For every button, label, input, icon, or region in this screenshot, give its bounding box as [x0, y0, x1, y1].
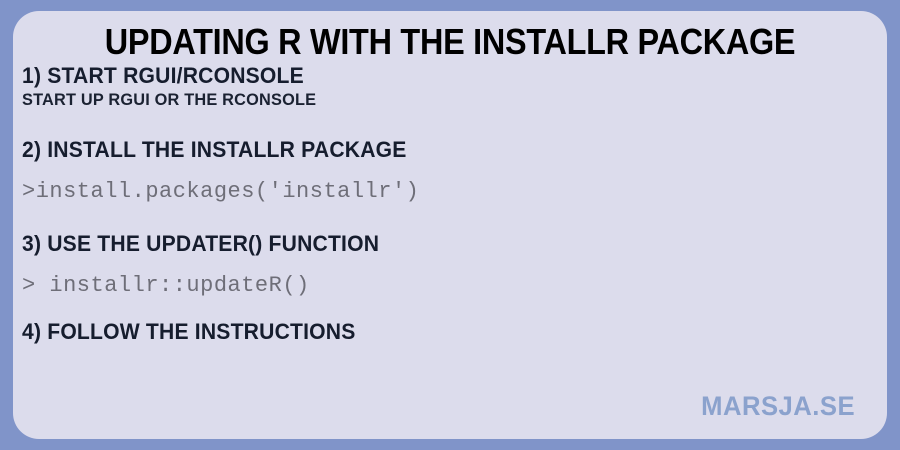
- page-title: UPDATING R WITH THE INSTALLR PACKAGE: [57, 22, 844, 62]
- spacer-5: [22, 301, 882, 319]
- poster-card: UPDATING R WITH THE INSTALLR PACKAGE 1) …: [13, 11, 887, 439]
- step-1: 1) START RGUI/RCONSOLE START UP RGUI OR …: [22, 63, 882, 111]
- spacer-3: [22, 207, 882, 231]
- step-2-heading: 2) INSTALL THE INSTALLR PACKAGE: [22, 137, 848, 163]
- step-1-heading: 1) START RGUI/RCONSOLE: [22, 63, 848, 89]
- step-4-heading: 4) FOLLOW THE INSTRUCTIONS: [22, 319, 848, 345]
- step-2-code: >install.packages('installr'): [22, 177, 882, 207]
- step-2: 2) INSTALL THE INSTALLR PACKAGE >install…: [22, 137, 882, 207]
- steps-list: 1) START RGUI/RCONSOLE START UP RGUI OR …: [22, 63, 882, 345]
- spacer-1: [22, 111, 882, 137]
- site-watermark: MARSJA.SE: [701, 391, 855, 421]
- step-3-code: > installr::updateR(): [22, 271, 882, 301]
- step-1-subtitle: START UP RGUI OR THE RCONSOLE: [22, 89, 848, 111]
- step-3: 3) USE THE UPDATER() FUNCTION > installr…: [22, 231, 882, 301]
- spacer-2: [22, 163, 882, 177]
- step-3-heading: 3) USE THE UPDATER() FUNCTION: [22, 231, 848, 257]
- poster-canvas: UPDATING R WITH THE INSTALLR PACKAGE 1) …: [0, 0, 900, 450]
- spacer-4: [22, 257, 882, 271]
- step-4: 4) FOLLOW THE INSTRUCTIONS: [22, 319, 882, 345]
